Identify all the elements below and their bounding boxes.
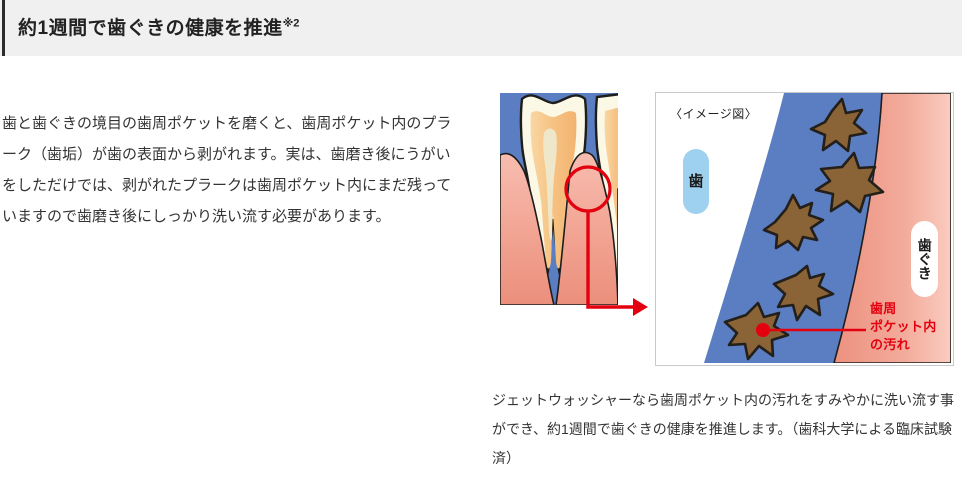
figure-caption: ジェットウォッシャーなら歯周ポケット内の汚れをすみやかに洗い流す事ができ、約1週… (492, 386, 954, 473)
page-title-footnote-marker: ※2 (283, 18, 300, 30)
tooth-badge: 歯 (683, 149, 709, 214)
plaque-marker-dot (756, 323, 770, 337)
pocket-dirt-callout-line1: 歯周 (870, 300, 937, 318)
periodontal-pocket-illustration: 〈イメージ図〉 歯 歯ぐき 歯周 ポケット内 の汚れ (655, 92, 954, 366)
pocket-dirt-callout-line2: ポケット内 (870, 318, 937, 336)
gum-tissue-right (618, 188, 644, 305)
header-accent-bar (2, 0, 5, 56)
callout-arrow-head (633, 298, 648, 316)
page-title: 約1週間で歯ぐきの健康を推進※2 (18, 13, 299, 40)
tooth-badge-label: 歯 (688, 174, 703, 189)
pocket-dirt-callout: 歯周 ポケット内 の汚れ (870, 300, 937, 354)
pocket-dirt-callout-line3: の汚れ (870, 336, 937, 354)
page-title-text: 約1週間で歯ぐきの健康を推進 (18, 18, 283, 39)
gum-badge: 歯ぐき (911, 221, 938, 297)
image-note-label: 〈イメージ図〉 (670, 105, 757, 122)
gum-badge-label: 歯ぐき (917, 238, 932, 280)
tooth-cross-section-illustration (500, 93, 648, 368)
lead-paragraph: 歯と歯ぐきの境目の歯周ポケットを磨くと、歯周ポケット内のプラーク（歯垢）が歯の表… (2, 108, 464, 232)
section-header-band: 約1週間で歯ぐきの健康を推進※2 (0, 0, 962, 56)
figure-group: 〈イメージ図〉 歯 歯ぐき 歯周 ポケット内 の汚れ (492, 88, 960, 378)
